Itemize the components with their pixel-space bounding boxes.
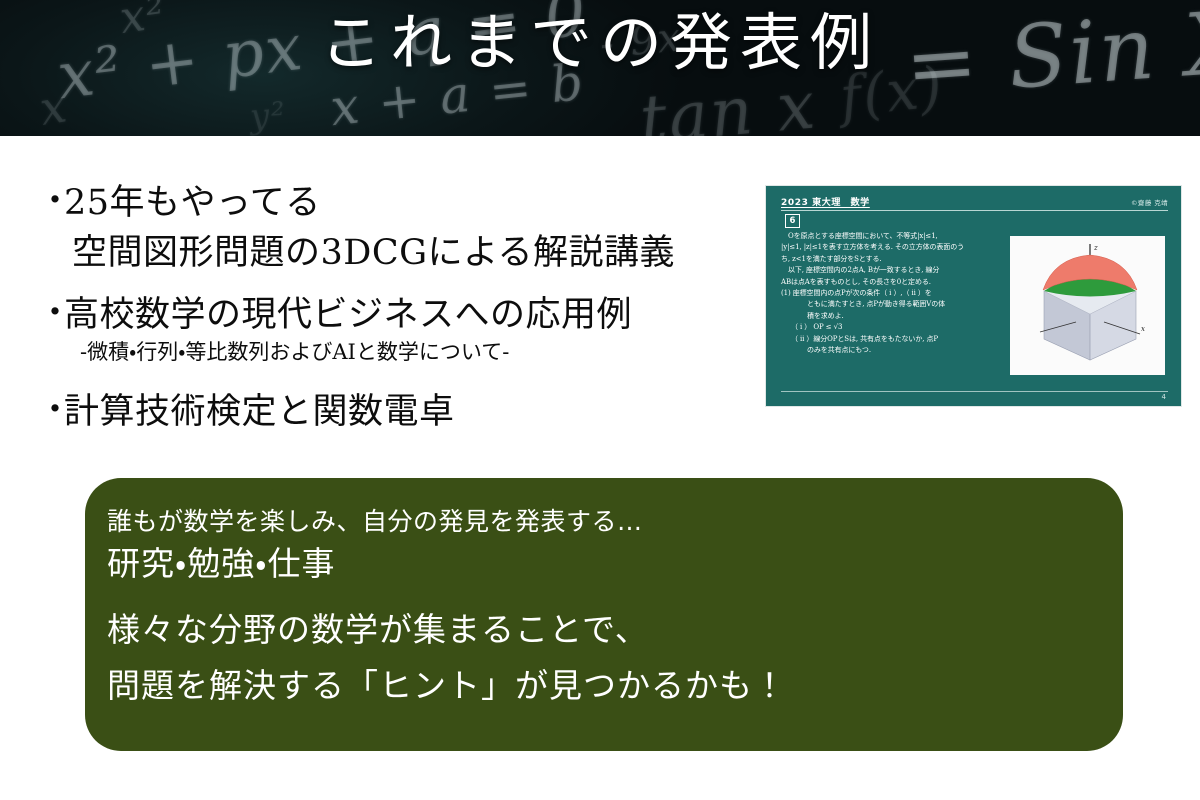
bullet-marker: ・ [38, 178, 64, 224]
list-item: ・ 計算技術検定と関数電卓 [38, 387, 768, 437]
slide-footer-rule [781, 391, 1168, 392]
page-title: これまでの発表例 [0, 10, 1200, 75]
problem-line: （ ii ）線分OPとSは, 共有点をもたないか, 点P [781, 334, 986, 345]
slide-header: 2023 東大理 数学 ©齋藤 克靖 [781, 195, 1168, 211]
bullet-body: 計算技術検定と関数電卓 [64, 387, 768, 437]
slide-problem-text: Oを原点とする座標空間において、不等式|x|≤1, |y|≤1, |z|≤1を表… [781, 231, 986, 356]
list-item: ・ 高校数学の現代ビジネスへの応用例 -微積・行列・等比数列およびAIと数学につ… [38, 290, 768, 367]
cube-figure: z x [1010, 236, 1165, 375]
slide-thumbnail-canvas: 2023 東大理 数学 ©齋藤 克靖 6 Oを原点とする座標空間において、不等式… [773, 191, 1176, 403]
bullet-line: 空間図形問題の3DCGによる解説講義 [64, 228, 768, 278]
x-axis-label: x [1141, 325, 1145, 333]
callout-line: 問題を解決する「ヒント」が見つかるかも！ [107, 660, 1123, 712]
cube-figure-svg: z x [1010, 236, 1165, 375]
z-axis-label: z [1093, 244, 1098, 252]
bullet-marker: ・ [38, 387, 64, 433]
slide-page-number: 4 [1162, 393, 1166, 401]
bullet-line: 25年もやってる [64, 178, 768, 228]
green-callout-box: 誰もが数学を楽しみ、自分の発見を発表する… 研究・勉強・仕事 様々な分野の数学が… [85, 478, 1123, 751]
chalk-formula-7: x [36, 78, 72, 136]
problem-line: ち, z<1を満たす部分をSとする. [781, 254, 986, 265]
slide-question-number: 6 [785, 214, 800, 228]
header-chalkboard-banner: x² + px + q = 0 x² x + a = b - 9x tan x … [0, 0, 1200, 136]
bullet-subtitle: -微積・行列・等比数列およびAIと数学について- [64, 337, 768, 367]
slide-copyright: ©齋藤 克靖 [1131, 197, 1168, 207]
problem-line: 積を求めよ. [781, 311, 986, 322]
slide-header-title: 2023 東大理 数学 [781, 195, 870, 208]
callout-line: 誰もが数学を楽しみ、自分の発見を発表する… [107, 502, 1123, 542]
bullet-body: 25年もやってる 空間図形問題の3DCGによる解説講義 [64, 178, 768, 278]
callout-line: 様々な分野の数学が集まることで、 [107, 604, 1123, 656]
problem-line: （ i ） OP ≤ √3 [781, 322, 986, 333]
problem-line: (1) 座標空間内の点Pが次の条件（ i ）,（ ii ）を [781, 288, 986, 299]
problem-line: |y|≤1, |z|≤1を表す立方体を考える. その立方体の表面のう [781, 242, 986, 253]
callout-line: 研究・勉強・仕事 [107, 540, 1123, 588]
slide-thumbnail-image: 2023 東大理 数学 ©齋藤 克靖 6 Oを原点とする座標空間において、不等式… [765, 185, 1182, 407]
bullet-line: 高校数学の現代ビジネスへの応用例 [64, 290, 768, 340]
problem-line: ABは点Aを表すものとし, その長さを0と定める. [781, 277, 986, 288]
chalk-formula-9: y² [249, 95, 289, 136]
bullet-list: ・ 25年もやってる 空間図形問題の3DCGによる解説講義 ・ 高校数学の現代ビ… [38, 176, 768, 437]
bullet-body: 高校数学の現代ビジネスへの応用例 -微積・行列・等比数列およびAIと数学について… [64, 290, 768, 367]
problem-line: 以下, 座標空間内の2点A, Bが一致するとき, 線分 [781, 265, 986, 276]
problem-line: Oを原点とする座標空間において、不等式|x|≤1, [781, 231, 986, 242]
bullet-marker: ・ [38, 290, 64, 336]
problem-line: ともに満たすとき, 点Pが動き得る範囲Vの体 [781, 299, 986, 310]
list-item: ・ 25年もやってる 空間図形問題の3DCGによる解説講義 [38, 178, 768, 278]
problem-line: のみを共有点にもつ. [781, 345, 986, 356]
bullet-line: 計算技術検定と関数電卓 [64, 387, 768, 437]
